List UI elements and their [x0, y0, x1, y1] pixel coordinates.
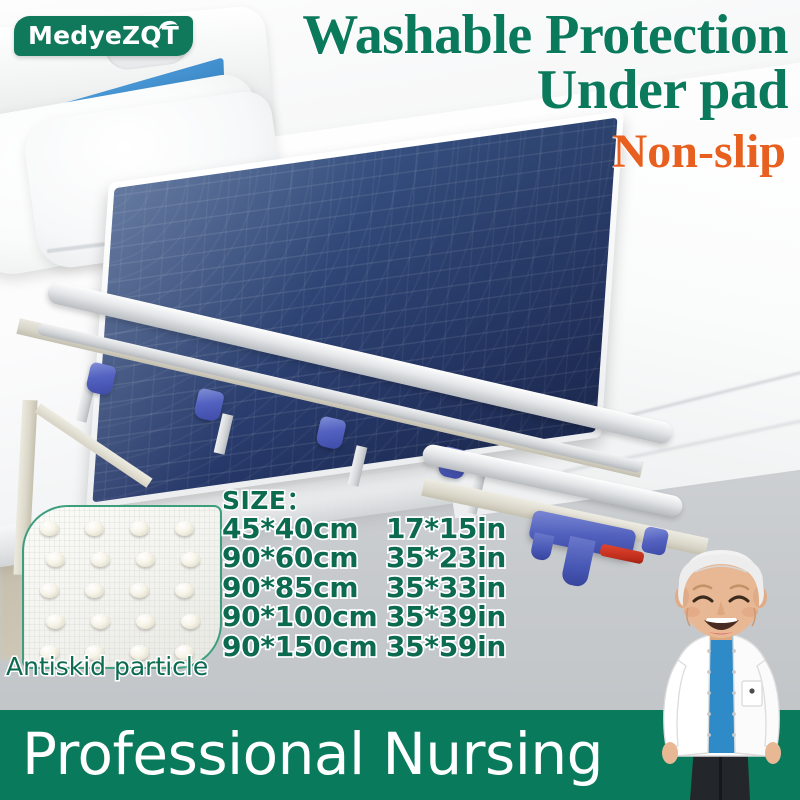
size-list-title: SIZE： [222, 488, 516, 514]
antiskid-dot [175, 521, 194, 536]
antiskid-dot [91, 552, 110, 567]
size-in: 17*15in [386, 515, 516, 544]
antiskid-dot [181, 552, 200, 567]
size-row: 90*60cm 35*23in [222, 544, 516, 573]
subheadline: Non-slip [613, 128, 786, 176]
antiskid-dot [136, 614, 155, 629]
size-cm: 90*60cm [222, 544, 386, 573]
antiskid-dot [130, 521, 149, 536]
antiskid-dot [40, 583, 59, 598]
antiskid-dot [181, 614, 200, 629]
size-cm: 90*100cm [222, 603, 386, 632]
size-list: SIZE： 45*40cm 17*15in 90*60cm 35*23in 90… [222, 488, 516, 661]
size-row: 90*150cm 35*59in [222, 633, 516, 662]
size-row: 90*100cm 35*39in [222, 603, 516, 632]
size-in: 35*39in [386, 603, 516, 632]
headline-line-1: Washable Protection [302, 8, 788, 63]
bottom-banner-text: Professional Nursing [22, 720, 603, 790]
antiskid-dot [85, 521, 104, 536]
size-row: 45*40cm 17*15in [222, 515, 516, 544]
antiskid-dot [175, 583, 194, 598]
size-in: 35*33in [386, 574, 516, 603]
antiskid-particle-label: Antiskid particle [6, 652, 208, 681]
antiskid-dot [40, 521, 59, 536]
headline: Washable Protection Under pad [302, 8, 788, 118]
headline-line-2: Under pad [302, 63, 788, 118]
size-in: 35*23in [386, 544, 516, 573]
size-in: 35*59in [386, 633, 516, 662]
antiskid-particle-swatch [22, 505, 222, 669]
brand-logo[interactable]: MedyeZQT [14, 16, 193, 56]
size-cm: 90*85cm [222, 574, 386, 603]
antiskid-dot [46, 552, 65, 567]
antiskid-dot [136, 552, 155, 567]
antiskid-dot [130, 583, 149, 598]
antiskid-dot [46, 614, 65, 629]
size-row: 90*85cm 35*33in [222, 574, 516, 603]
mascot-elderly-man [638, 548, 800, 800]
antiskid-dot [91, 614, 110, 629]
brand-logo-text: MedyeZQT [28, 21, 179, 50]
size-cm: 45*40cm [222, 515, 386, 544]
antiskid-dot [85, 583, 104, 598]
size-cm: 90*150cm [222, 633, 386, 662]
product-banner: MedyeZQT Washable Protection Under pad N… [0, 0, 800, 800]
